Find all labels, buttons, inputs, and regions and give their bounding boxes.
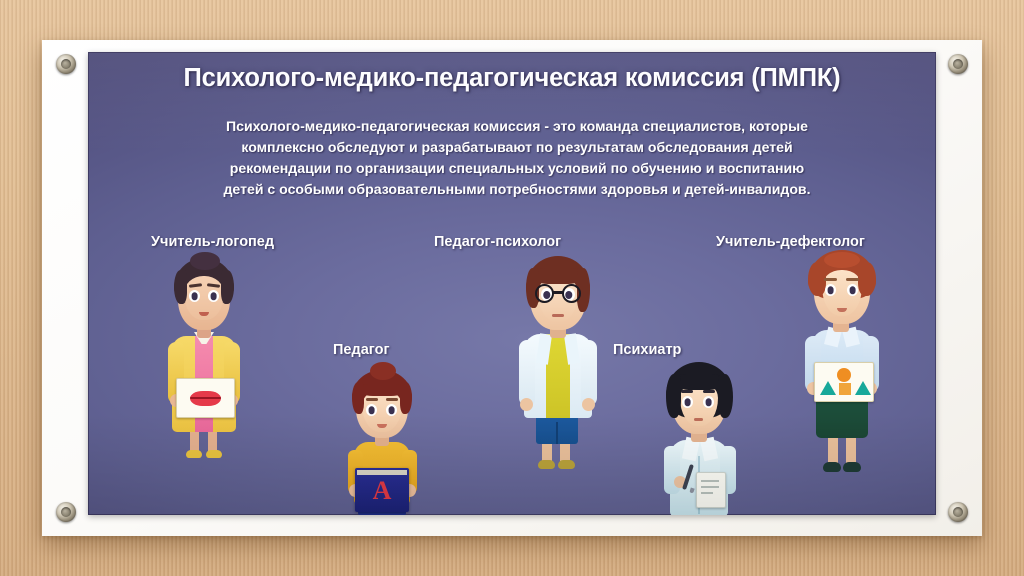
role-label-psiholog: Педагог-психолог [434,234,561,250]
figure-logoped [140,252,270,507]
figure-psihiatr [644,360,756,515]
brow-left [366,398,378,401]
role-label-pedagog: Педагог [333,342,390,358]
body-line-3: рекомендации по организации специальных … [144,158,890,179]
arm-right [581,340,597,406]
hair-side-left [352,382,364,414]
slide-title: Психолого-медико-педагогическая комиссия… [88,64,936,93]
shoe-left [823,462,841,472]
eye-right [703,396,714,408]
card-with-lips [176,378,235,418]
role-label-psihiatr: Психиатр [613,342,681,358]
eyeglasses-icon [535,284,581,304]
hand-right [582,398,595,411]
glasses-bridge [553,291,563,294]
eye-left [366,404,377,416]
grommet-top-right-icon [948,54,968,74]
eye-left [682,396,693,408]
role-label-logoped: Учитель-логопед [151,234,274,250]
glasses-lens-left [535,284,554,303]
shoe-right [843,462,861,472]
hair-bun [370,362,396,380]
hair-bun [190,252,220,270]
hand-left [520,398,533,411]
shape-circle-orange [837,368,851,382]
arm-left [519,340,535,406]
brow-left [681,390,693,393]
shoe-right [558,460,575,469]
figure-defektolog [780,248,906,510]
hair-side-right [400,382,412,414]
body-line-4: детей с особыми образовательными потребн… [144,179,890,200]
figure-psiholog [498,252,618,508]
shoe-left [186,450,202,458]
brow-right [386,398,398,401]
eye-right [386,404,397,416]
book: А [355,468,409,512]
shoe-left [538,460,555,469]
clipboard-line-2 [701,486,719,488]
mouth [694,418,703,421]
grommet-top-left-icon [56,54,76,74]
hair-side-left [666,374,681,418]
clipboard-line-3 [701,492,713,494]
body-line-2: комплексно обследуют и разрабатывают по … [144,137,890,158]
clipboard [696,472,726,508]
slide-canvas: Психолого-медико-педагогическая комиссия… [88,52,936,515]
brow-left [824,278,837,281]
lips-line [190,397,221,399]
bangs [674,374,724,390]
grommet-bottom-left-icon [56,502,76,522]
mouth [552,314,564,317]
book-top-edge [357,470,407,475]
grommet-bottom-right-icon [948,502,968,522]
brow-right [846,278,859,281]
body-line-1: Психолого-медико-педагогическая комиссия… [144,116,890,137]
slide-photo-scene: Психолого-медико-педагогическая комиссия… [0,0,1024,576]
eye-left [825,284,836,296]
glasses-lens-right [562,284,581,303]
hair-curl-top [824,252,860,268]
hair-side-right [221,270,234,304]
clipboard-line-1 [701,480,719,482]
shoe-right [206,450,222,458]
slide-body-text: Психолого-медико-педагогическая комиссия… [144,116,890,199]
brow-right [703,390,715,393]
hair-side-right [718,374,733,418]
eye-right [847,284,858,296]
hair-side-left [174,270,187,304]
card-with-shapes [814,362,874,402]
presentation-board: Психолого-медико-педагогическая комиссия… [42,40,982,536]
figure-pedagog: А [328,364,438,515]
shorts-split [556,422,558,444]
eye-left [189,290,200,302]
eye-right [208,290,219,302]
book-letter: А [355,478,409,504]
hair-curl-right [858,262,876,296]
shape-square-orange [839,383,851,395]
bangs [358,384,406,396]
shape-triangle-teal-right [855,381,871,395]
shape-triangle-teal-left [820,381,836,395]
